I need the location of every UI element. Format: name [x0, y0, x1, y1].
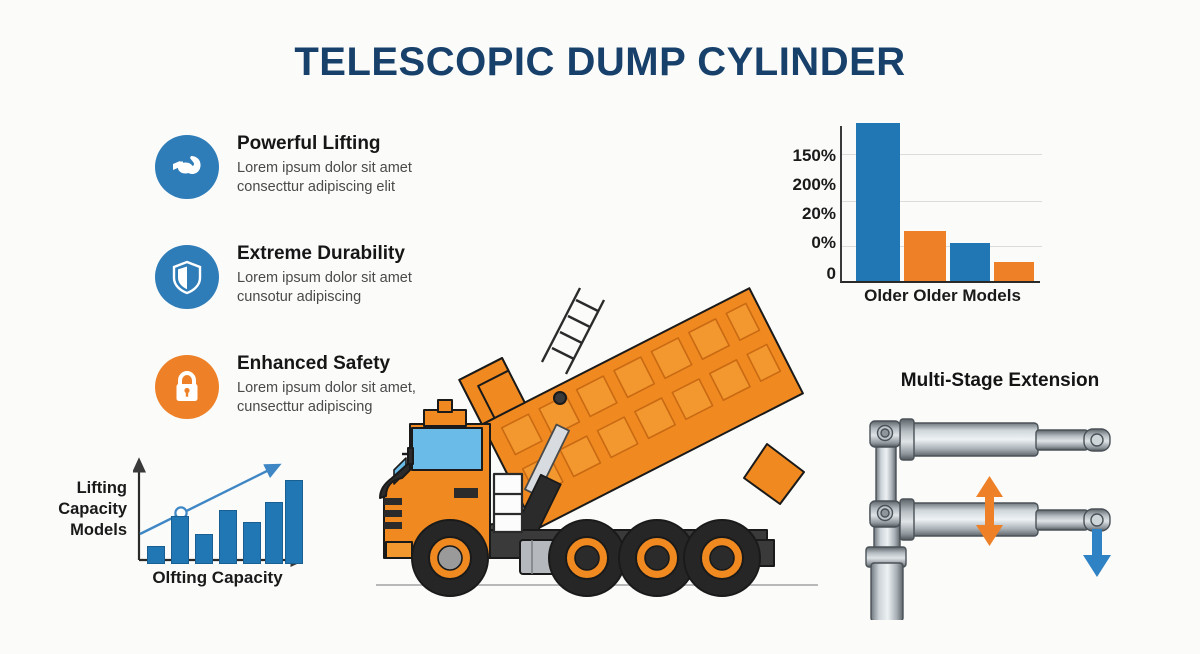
multi-stage-cylinder-diagram: [858, 405, 1143, 620]
feature-item-powerful-lifting[interactable]: Powerful Lifting Lorem ipsum dolor sit a…: [155, 133, 465, 243]
chart-plot-area: [133, 456, 303, 564]
feature-description: Lorem ipsum dolor sit amet consecttur ad…: [237, 159, 437, 197]
cylinder-section-heading: Multi-Stage Extension: [860, 370, 1140, 392]
retract-arrow-icon: [1083, 529, 1111, 577]
bar-1: [147, 546, 165, 564]
lock-icon-badge: [155, 355, 219, 419]
shield-icon-badge: [155, 245, 219, 309]
muscle-icon: [167, 147, 207, 187]
feature-text-block: Powerful Lifting Lorem ipsum dolor sit a…: [237, 133, 467, 197]
y-tick-label: 200%: [793, 175, 836, 195]
y-tick-label: 20%: [802, 204, 836, 224]
chart-x-axis-label: Olfting Capacity: [125, 568, 310, 588]
y-axis-label-line: Models: [55, 520, 127, 541]
y-tick-label: 0%: [811, 233, 836, 253]
bar-2: [904, 231, 946, 281]
shield-icon: [167, 257, 207, 297]
chart-x-axis-label: Older Older Models: [840, 286, 1045, 306]
bar-4: [994, 262, 1034, 281]
muscle-icon-badge: [155, 135, 219, 199]
bar-7: [285, 480, 303, 564]
lifting-capacity-trend-chart: Lifting Capacity Models: [55, 450, 315, 600]
bar-3: [195, 534, 213, 564]
bar-2: [171, 516, 189, 564]
bar-5: [243, 522, 261, 564]
lock-icon: [167, 367, 207, 407]
page-title: TELESCOPIC DUMP CYLINDER: [0, 40, 1200, 85]
feature-heading: Powerful Lifting: [237, 133, 467, 155]
chart-y-axis-label: Lifting Capacity Models: [55, 478, 127, 541]
bar-4: [219, 510, 237, 564]
y-tick-label: 0: [827, 264, 836, 284]
bar-1: [856, 123, 900, 281]
y-tick-label: 150%: [793, 146, 836, 166]
infographic-canvas: TELESCOPIC DUMP CYLINDER Powerful Liftin…: [0, 0, 1200, 654]
bar-6: [265, 502, 283, 564]
dump-truck-graphic: [372, 258, 822, 598]
cylinder-graphic: [858, 405, 1143, 620]
y-axis-label-line: Capacity: [55, 499, 127, 520]
bar-3: [950, 243, 990, 281]
chart-plot-area: [840, 126, 1040, 283]
y-axis-label-line: Lifting: [55, 478, 127, 499]
dump-truck-illustration: [372, 258, 822, 598]
